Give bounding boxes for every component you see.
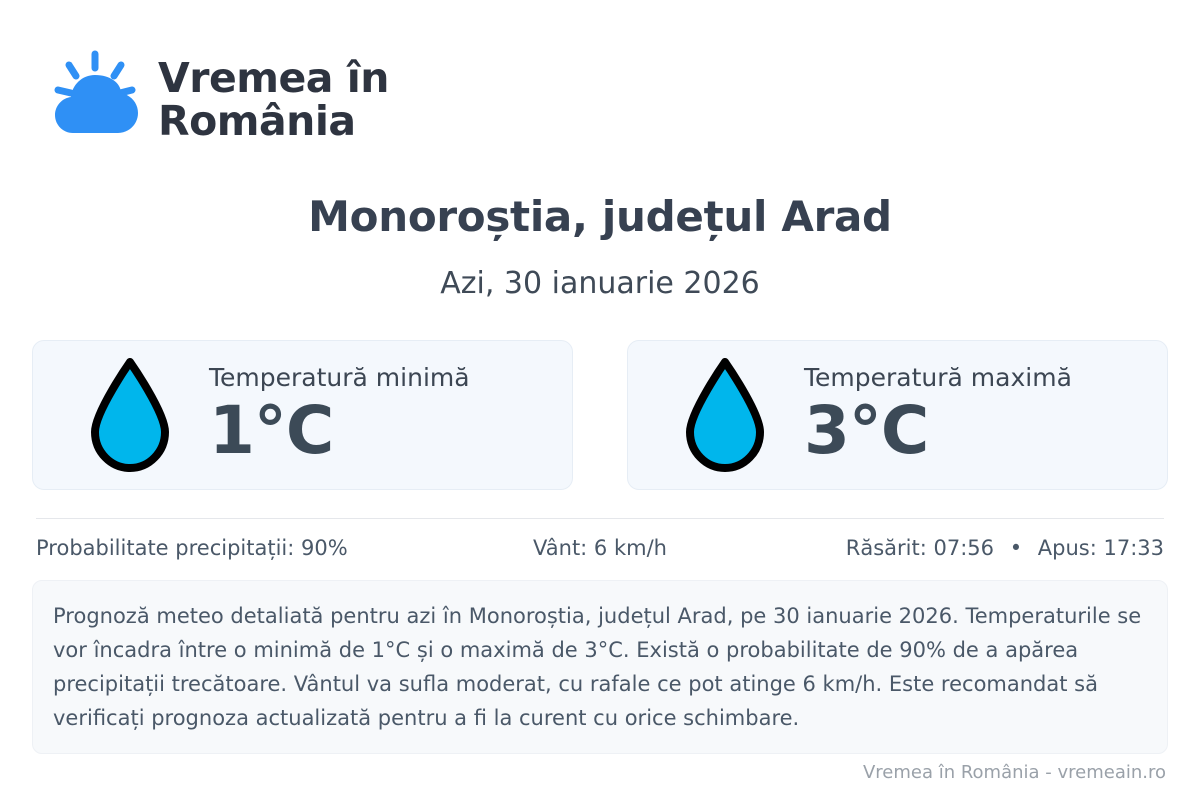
brand-title: Vremea în România <box>158 57 389 143</box>
temperature-card-max-body: Temperatură maximă 3°C <box>804 363 1072 468</box>
sun-times-separator: • <box>1010 536 1022 560</box>
weather-page: Vremea în România Monoroștia, județul Ar… <box>0 0 1200 800</box>
precipitation-stat: Probabilitate precipitații: 90% <box>36 536 412 560</box>
temperature-card-min: Temperatură minimă 1°C <box>32 340 573 490</box>
temperature-card-min-body: Temperatură minimă 1°C <box>209 363 470 468</box>
temperature-max-value: 3°C <box>804 394 928 468</box>
sunset-value: Apus: 17:33 <box>1038 536 1164 560</box>
sun-times-stat: Răsărit: 07:56 • Apus: 17:33 <box>788 536 1164 560</box>
brand-line-2: România <box>158 100 389 143</box>
temperature-card-max: Temperatură maximă 3°C <box>627 340 1168 490</box>
temperature-min-label: Temperatură minimă <box>209 363 470 392</box>
brand-line-1: Vremea în <box>158 54 389 102</box>
stats-divider <box>36 518 1164 519</box>
site-brand: Vremea în România <box>36 48 389 152</box>
temperature-min-value: 1°C <box>209 394 333 468</box>
sunrise-value: Răsărit: 07:56 <box>846 536 994 560</box>
sun-behind-cloud-icon <box>36 48 140 152</box>
wind-stat: Vânt: 6 km/h <box>412 536 788 560</box>
page-title: Monoroștia, județul Arad <box>0 192 1200 241</box>
temperature-max-label: Temperatură maximă <box>804 363 1072 392</box>
temperature-cards: Temperatură minimă 1°C Temperatură maxim… <box>32 340 1168 490</box>
water-drop-icon <box>87 356 173 474</box>
weather-stats-row: Probabilitate precipitații: 90% Vânt: 6 … <box>36 536 1164 560</box>
forecast-description-box: Prognoză meteo detaliată pentru azi în M… <box>32 580 1168 754</box>
forecast-description-text: Prognoză meteo detaliată pentru azi în M… <box>53 599 1143 735</box>
page-subtitle: Azi, 30 ianuarie 2026 <box>0 266 1200 301</box>
footer-attribution: Vremea în România - vremeain.ro <box>863 762 1166 783</box>
water-drop-icon <box>682 356 768 474</box>
